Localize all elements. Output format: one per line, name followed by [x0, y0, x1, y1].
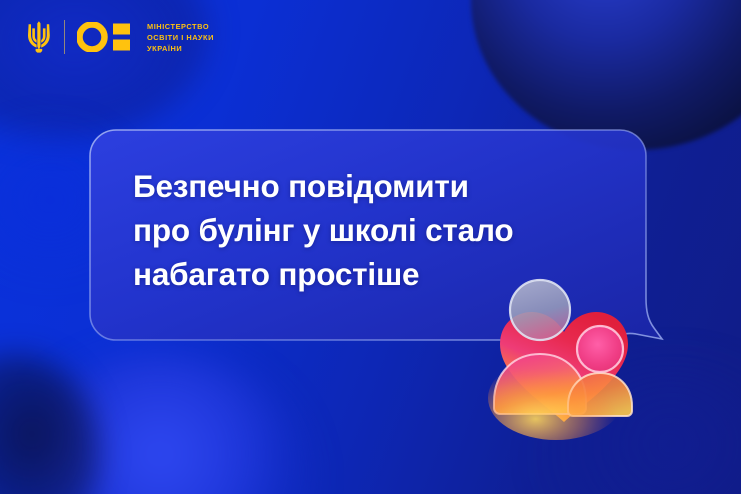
poster-canvas: МІНІСТЕРСТВО ОСВІТИ І НАУКИ УКРАЇНИ [0, 0, 741, 494]
two-people-heart-illustration [482, 272, 652, 440]
headline-line-2: про булінг у школі стало [133, 208, 633, 252]
headline-line-1: Безпечно повідомити [133, 164, 633, 208]
ministry-line-1: МІНІСТЕРСТВО [147, 22, 214, 31]
ministry-name-block: МІНІСТЕРСТВО ОСВІТИ І НАУКИ УКРАЇНИ [147, 22, 214, 53]
illustration-warm-glow [488, 356, 624, 440]
ministry-logo-lockup: МІНІСТЕРСТВО ОСВІТИ І НАУКИ УКРАЇНИ [26, 20, 214, 54]
ministry-line-2: ОСВІТИ І НАУКИ [147, 33, 214, 42]
logo-divider [64, 20, 65, 54]
illustration-svg [482, 272, 652, 440]
ministry-line-3: УКРАЇНИ [147, 44, 214, 53]
ukraine-trident-emblem [26, 20, 52, 54]
mon-logo-mark [77, 22, 133, 52]
person-left-head [510, 280, 570, 340]
